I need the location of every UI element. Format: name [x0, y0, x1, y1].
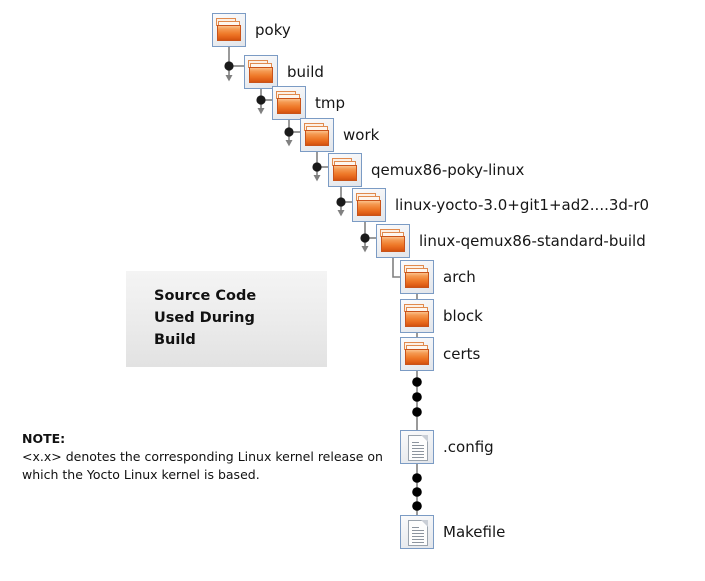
- tree-node-linux-yocto[interactable]: linux-yocto-3.0+git1+ad2....3d-r0: [352, 188, 649, 222]
- tree-node-linux-qemux86-standard-build[interactable]: linux-qemux86-standard-build: [376, 224, 646, 258]
- tree-node-label: tmp: [315, 96, 345, 111]
- folder-icon: [400, 260, 434, 294]
- document-icon: [400, 430, 434, 464]
- tree-node-label: linux-qemux86-standard-build: [419, 234, 646, 249]
- tree-node-label: block: [443, 309, 483, 324]
- tree-node-work[interactable]: work: [300, 118, 379, 152]
- note-block: NOTE: <x.x> denotes the corresponding Li…: [22, 431, 392, 484]
- tree-node-poky[interactable]: poky: [212, 13, 291, 47]
- tree-node-label: certs: [443, 347, 480, 362]
- tree-node-label: arch: [443, 270, 476, 285]
- document-icon: [400, 515, 434, 549]
- tree-node-block[interactable]: block: [400, 299, 483, 333]
- callout-label: Source Code Used During Build: [154, 286, 256, 351]
- tree-node-label: qemux86-poky-linux: [371, 163, 524, 178]
- tree-node-label: build: [287, 65, 324, 80]
- connector-lines: [0, 0, 705, 581]
- folder-icon: [400, 299, 434, 333]
- folder-icon: [400, 337, 434, 371]
- tree-node-makefile[interactable]: Makefile: [400, 515, 505, 549]
- tree-node-tmp[interactable]: tmp: [272, 86, 345, 120]
- folder-icon: [300, 118, 334, 152]
- note-body: <x.x> denotes the corresponding Linux ke…: [22, 448, 392, 484]
- source-code-callout-box: Source Code Used During Build: [126, 271, 327, 367]
- folder-icon: [376, 224, 410, 258]
- tree-node-label: linux-yocto-3.0+git1+ad2....3d-r0: [395, 198, 649, 213]
- diagram-canvas: poky build tmp work qemux86-poky-linux l…: [0, 0, 705, 581]
- tree-node-build[interactable]: build: [244, 55, 324, 89]
- folder-icon: [212, 13, 246, 47]
- tree-node-qemux86-poky-linux[interactable]: qemux86-poky-linux: [328, 153, 524, 187]
- tree-node-label: work: [343, 128, 379, 143]
- folder-icon: [352, 188, 386, 222]
- note-title: NOTE:: [22, 431, 392, 446]
- tree-node-label: Makefile: [443, 525, 505, 540]
- tree-node-label: .config: [443, 440, 494, 455]
- tree-node-arch[interactable]: arch: [400, 260, 476, 294]
- folder-icon: [328, 153, 362, 187]
- tree-node-certs[interactable]: certs: [400, 337, 480, 371]
- tree-node-label: poky: [255, 23, 291, 38]
- tree-node-config[interactable]: .config: [400, 430, 494, 464]
- folder-icon: [272, 86, 306, 120]
- folder-icon: [244, 55, 278, 89]
